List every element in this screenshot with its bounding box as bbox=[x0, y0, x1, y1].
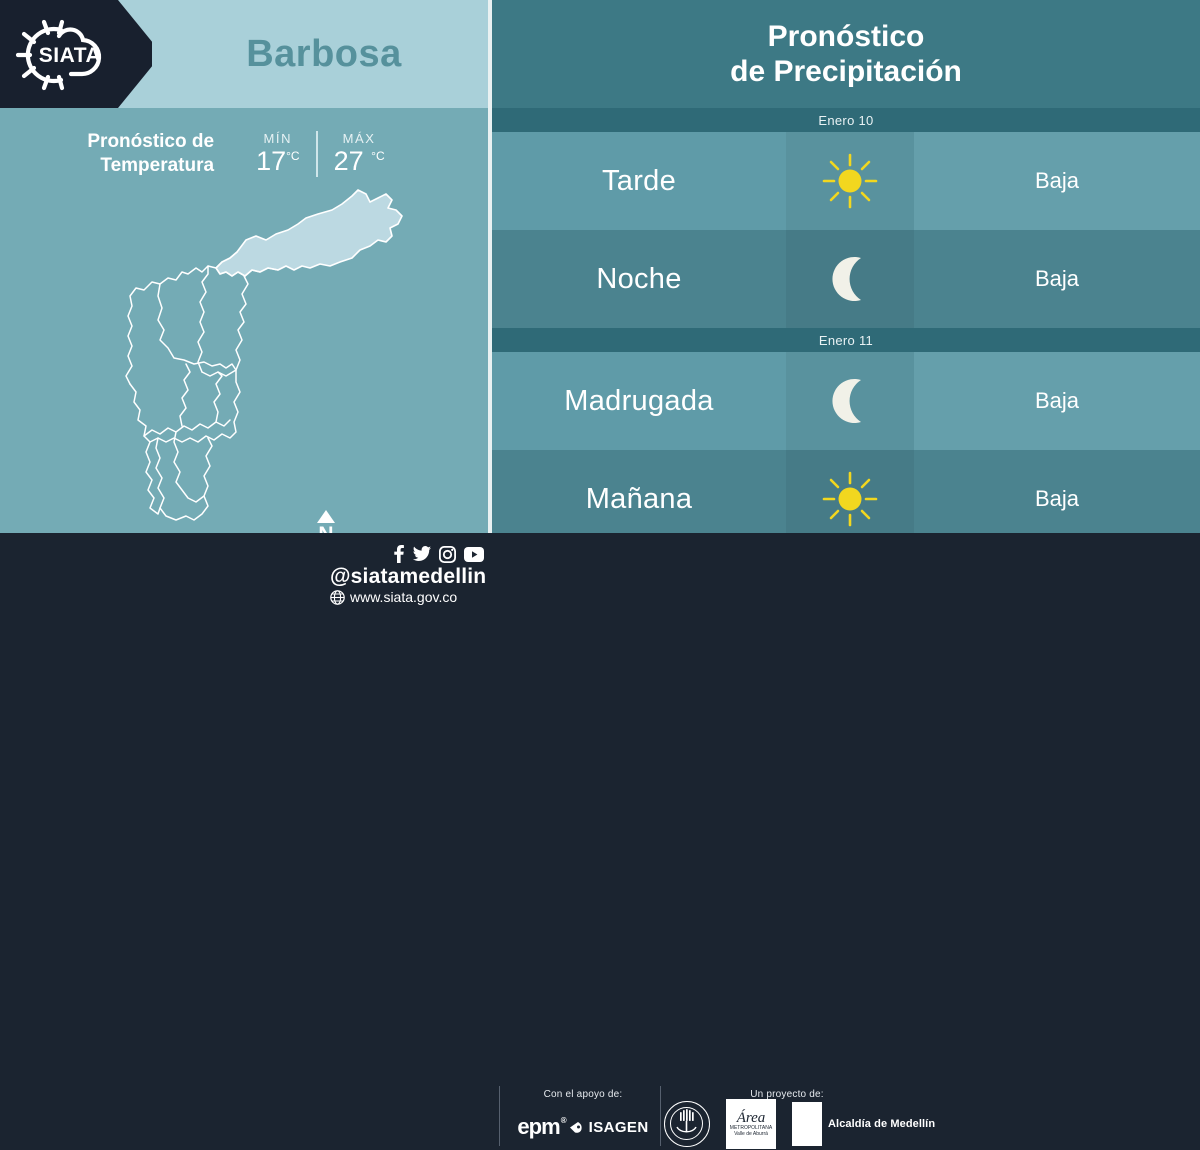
facebook-icon[interactable] bbox=[392, 545, 405, 563]
forecast-row[interactable]: Tarde Baja bbox=[492, 132, 1200, 230]
social-icons bbox=[392, 545, 484, 563]
infographic-canvas: SIATA Barbosa Pronóstico de Temperatura … bbox=[0, 0, 1200, 630]
left-header: SIATA Barbosa bbox=[0, 0, 488, 108]
precipitation-title-line2: de Precipitación bbox=[730, 54, 962, 89]
forecast-level: Baja bbox=[914, 230, 1200, 328]
temperature-min-unit: °C bbox=[286, 149, 299, 163]
project-logos: Área METROPOLITANA Valle de Aburrá Alcal… bbox=[664, 1099, 935, 1149]
alcaldia-crest-icon bbox=[792, 1102, 822, 1146]
forecast-icon-cell bbox=[786, 132, 914, 230]
forecast-row[interactable]: Madrugada Baja bbox=[492, 352, 1200, 450]
city-name: Barbosa bbox=[160, 0, 488, 108]
alcaldia-logo[interactable]: Alcaldía de Medellín bbox=[792, 1102, 935, 1146]
temperature-max-value: 27 °C bbox=[334, 146, 385, 177]
footer: @siatamedellin www.siata.gov.co Con el a… bbox=[0, 533, 1200, 630]
sun-cloud-icon: SIATA bbox=[14, 18, 136, 92]
epm-registered-mark: ® bbox=[561, 1116, 566, 1125]
supporter-logos: epm® ISAGEN bbox=[508, 1114, 658, 1140]
footer-divider-2 bbox=[660, 1086, 661, 1146]
right-panel: Pronóstico de Precipitación Enero 10 Tar… bbox=[492, 0, 1200, 533]
epm-logo[interactable]: epm® bbox=[517, 1114, 559, 1140]
temperature-title: Pronóstico de Temperatura bbox=[87, 130, 214, 177]
forecast-period: Tarde bbox=[492, 132, 786, 230]
temperature-max: MÁX 27 °C bbox=[316, 131, 401, 177]
twitter-icon[interactable] bbox=[413, 546, 431, 562]
temperature-min-label: MÍN bbox=[264, 131, 293, 146]
area-line2: Valle de Aburrá bbox=[734, 1132, 768, 1138]
moon-icon bbox=[823, 374, 877, 428]
forecast-icon-cell bbox=[786, 352, 914, 450]
date-bar-day1: Enero 10 bbox=[492, 108, 1200, 132]
youtube-icon[interactable] bbox=[464, 547, 484, 562]
forecast-icon-cell bbox=[786, 230, 914, 328]
forecast-level: Baja bbox=[914, 352, 1200, 450]
temperature-min: MÍN 17°C bbox=[240, 131, 316, 177]
date-bar-day2: Enero 11 bbox=[492, 328, 1200, 352]
precipitation-header: Pronóstico de Precipitación bbox=[492, 0, 1200, 108]
sun-icon bbox=[820, 151, 880, 211]
temperature-max-unit: °C bbox=[371, 149, 384, 163]
website-url: www.siata.gov.co bbox=[350, 589, 457, 605]
sun-icon bbox=[820, 469, 880, 529]
temperature-title-line2: Temperatura bbox=[87, 154, 214, 178]
isagen-logo[interactable]: ISAGEN bbox=[570, 1119, 649, 1136]
temperature-values: MÍN 17°C MÁX 27 °C bbox=[240, 131, 401, 177]
map-region-borders bbox=[126, 252, 286, 520]
footer-divider-1 bbox=[499, 1086, 500, 1146]
social-handle[interactable]: @siatamedellin bbox=[330, 565, 486, 589]
temperature-max-label: MÁX bbox=[343, 131, 376, 146]
udea-seal-icon[interactable] bbox=[664, 1101, 710, 1147]
temperature-min-value: 17°C bbox=[256, 146, 300, 177]
footer-social-block: @siatamedellin www.siata.gov.co bbox=[330, 545, 490, 605]
forecast-period: Noche bbox=[492, 230, 786, 328]
north-arrow-icon bbox=[317, 510, 335, 523]
support-caption: Con el apoyo de: bbox=[508, 1089, 658, 1100]
area-metropolitana-logo[interactable]: Área METROPOLITANA Valle de Aburrá bbox=[726, 1099, 776, 1149]
area-script-text: Área bbox=[737, 1111, 766, 1126]
map-svg bbox=[40, 180, 450, 530]
isagen-leaf-icon bbox=[570, 1121, 586, 1134]
map-region-barbosa[interactable] bbox=[216, 190, 402, 276]
instagram-icon[interactable] bbox=[439, 546, 456, 563]
left-panel: SIATA Barbosa Pronóstico de Temperatura … bbox=[0, 0, 488, 533]
alcaldia-label: Alcaldía de Medellín bbox=[828, 1118, 935, 1130]
forecast-period: Madrugada bbox=[492, 352, 786, 450]
website-row[interactable]: www.siata.gov.co bbox=[330, 589, 457, 605]
forecast-level: Baja bbox=[914, 132, 1200, 230]
globe-icon bbox=[330, 590, 345, 605]
moon-icon bbox=[823, 252, 877, 306]
valley-map[interactable]: N bbox=[40, 180, 450, 530]
logo-text: SIATA bbox=[39, 44, 101, 67]
temperature-title-line1: Pronóstico de bbox=[87, 130, 214, 154]
precipitation-title-line1: Pronóstico bbox=[768, 19, 925, 54]
footer-support-block: Con el apoyo de: epm® ISAGEN bbox=[508, 1089, 658, 1140]
siata-logo-block[interactable]: SIATA bbox=[0, 0, 152, 108]
forecast-row[interactable]: Noche Baja bbox=[492, 230, 1200, 328]
